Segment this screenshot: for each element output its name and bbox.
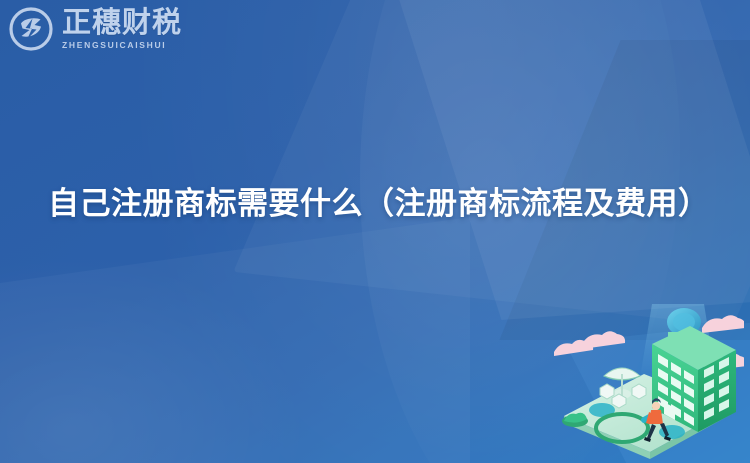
brand-name-pinyin: ZHENGSUICAISHUI: [62, 41, 182, 50]
page-title: 自己注册商标需要什么（注册商标流程及费用）: [48, 182, 702, 226]
shrub: [562, 413, 588, 427]
headline-container: 自己注册商标需要什么（注册商标流程及费用）: [0, 182, 750, 226]
background-polygon-shape-2: [365, 0, 750, 320]
isometric-illustration: [544, 304, 744, 459]
promotional-banner: 正穗财税 ZHENGSUICAISHUI 自己注册商标需要什么（注册商标流程及费…: [0, 0, 750, 463]
background-glow-bottom-left: [0, 250, 310, 463]
background-polygon-shape-1: [233, 0, 750, 326]
background-polygon-shape-3: [0, 217, 470, 463]
brand-logo-text: 正穗财税 ZHENGSUICAISHUI: [62, 8, 182, 50]
circle-lightning-z-icon: [8, 6, 54, 52]
brand-logo: 正穗财税 ZHENGSUICAISHUI: [8, 6, 182, 52]
brand-name-cn: 正穗财税: [62, 8, 182, 37]
